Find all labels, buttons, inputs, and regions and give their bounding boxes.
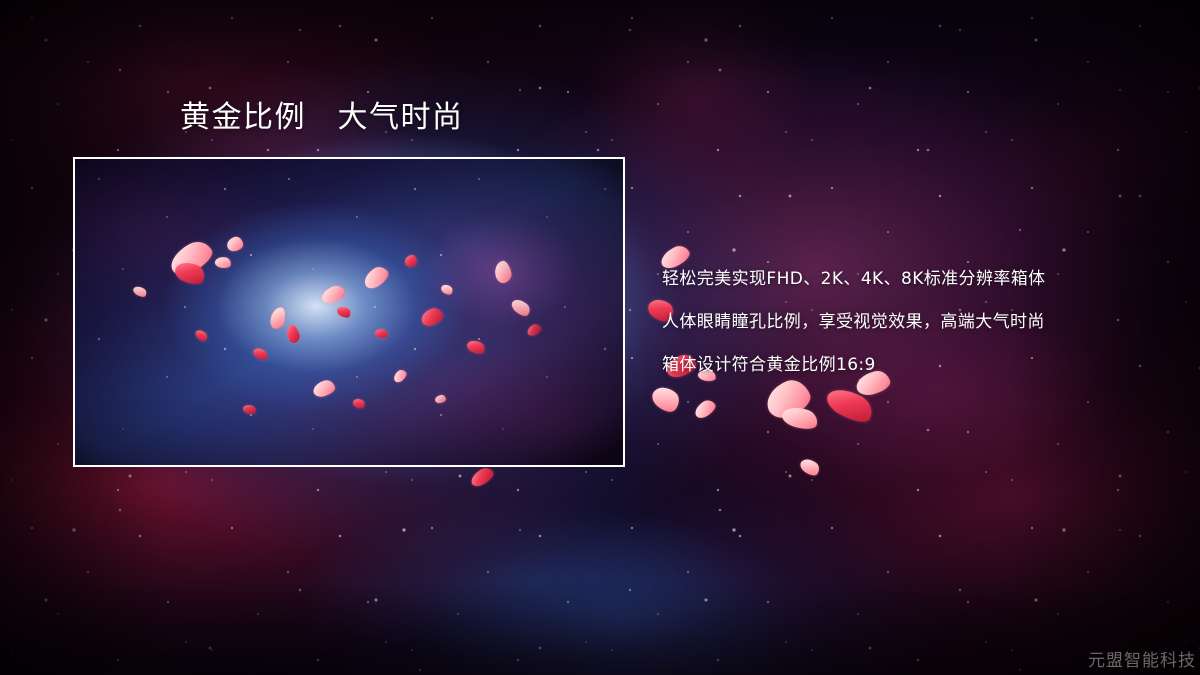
- body-line-3: 箱体设计符合黄金比例16:9: [662, 344, 1182, 387]
- page-title: 黄金比例 大气时尚: [180, 99, 464, 137]
- petal-shape: [468, 465, 496, 489]
- petal-shape: [798, 455, 822, 478]
- petal-shape: [823, 382, 878, 427]
- watermark: 元盟智能科技: [1088, 646, 1196, 671]
- petal-shape: [692, 397, 718, 421]
- presentation-slide: 黄金比例 大气时尚 轻松完美实现FHD、2K、4K、8K标准分辨率箱体 人体眼睛…: [0, 0, 1200, 675]
- framed-photo: [73, 157, 625, 467]
- photo-vignette: [75, 159, 623, 465]
- body-copy: 轻松完美实现FHD、2K、4K、8K标准分辨率箱体 人体眼睛瞳孔比例，享受视觉效…: [662, 258, 1182, 387]
- body-line-2: 人体眼睛瞳孔比例，享受视觉效果，高端大气时尚: [662, 301, 1182, 344]
- petal-shape: [780, 403, 820, 432]
- body-line-1: 轻松完美实现FHD、2K、4K、8K标准分辨率箱体: [662, 258, 1182, 301]
